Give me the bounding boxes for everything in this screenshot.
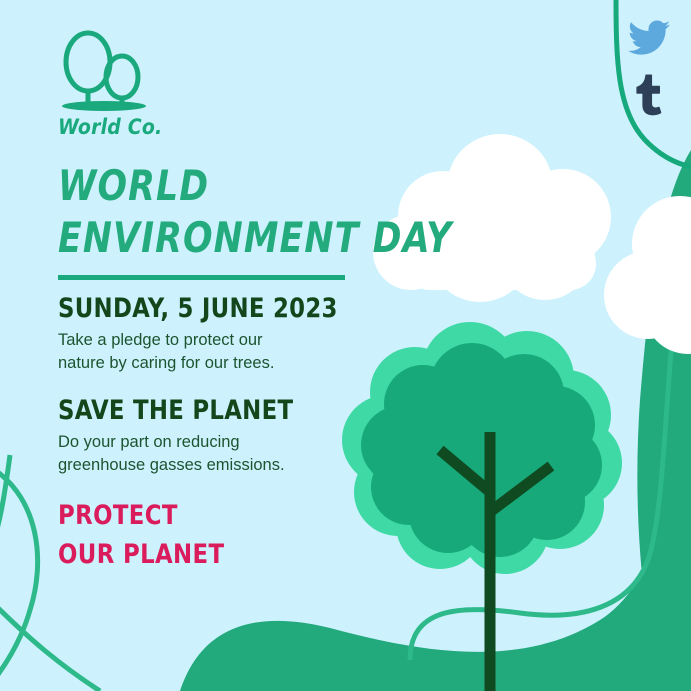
cta-line-2: OUR PLANET <box>58 535 368 574</box>
headline-divider <box>58 275 345 280</box>
twitter-icon[interactable] <box>628 20 670 56</box>
section-save-body-line-2: greenhouse gasses emissions. <box>58 454 388 477</box>
section-date-body-line-2: nature by caring for our trees. <box>58 352 388 375</box>
two-trees-icon <box>58 30 148 115</box>
section-date: SUNDAY, 5 JUNE 2023 Take a pledge to pro… <box>58 294 388 375</box>
poster-canvas: World Co. WORLD ENVIRONMENT DAY SUNDAY, … <box>0 0 691 691</box>
tumblr-icon[interactable] <box>634 74 664 116</box>
headline-line-2: ENVIRONMENT DAY <box>58 212 426 264</box>
section-date-title: SUNDAY, 5 JUNE 2023 <box>58 294 368 324</box>
headline-line-1: WORLD <box>58 160 426 212</box>
section-save-body-line-1: Do your part on reducing <box>58 431 388 454</box>
section-date-body-line-1: Take a pledge to protect our <box>58 329 388 352</box>
social-icons <box>619 20 679 116</box>
brand-logo[interactable]: World Co. <box>58 30 278 138</box>
headline-block: WORLD ENVIRONMENT DAY <box>58 160 458 280</box>
section-save-the-planet: SAVE THE PLANET Do your part on reducing… <box>58 396 388 477</box>
section-save-body: Do your part on reducing greenhouse gass… <box>58 431 388 477</box>
brand-name: World Co. <box>58 117 278 138</box>
call-to-action: PROTECT OUR PLANET <box>58 496 388 574</box>
section-date-body: Take a pledge to protect our nature by c… <box>58 329 388 375</box>
cta-line-1: PROTECT <box>58 496 368 535</box>
section-save-title: SAVE THE PLANET <box>58 396 368 426</box>
